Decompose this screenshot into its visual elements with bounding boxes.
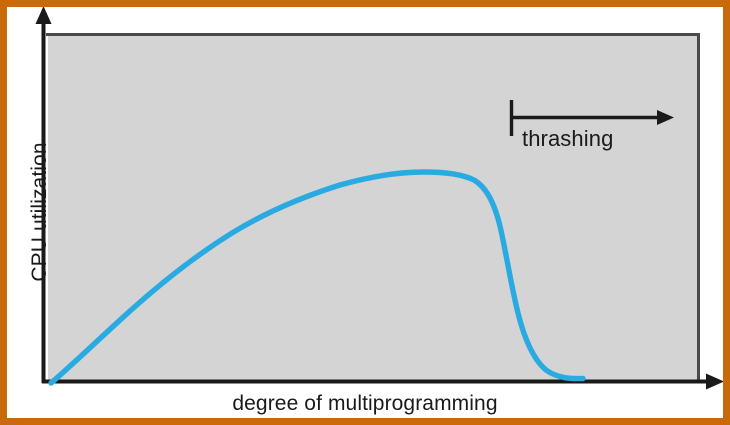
y-axis-arrowhead xyxy=(36,6,52,24)
chart-canvas xyxy=(0,0,730,425)
thrashing-figure: CPU utilization degree of multiprogrammi… xyxy=(0,0,730,425)
y-axis-label: CPU utilization xyxy=(28,112,52,312)
plot-area-background xyxy=(48,33,700,382)
thrashing-annotation-label: thrashing xyxy=(522,126,613,152)
x-axis-label: degree of multiprogramming xyxy=(0,392,730,416)
x-axis-arrowhead xyxy=(706,374,724,390)
